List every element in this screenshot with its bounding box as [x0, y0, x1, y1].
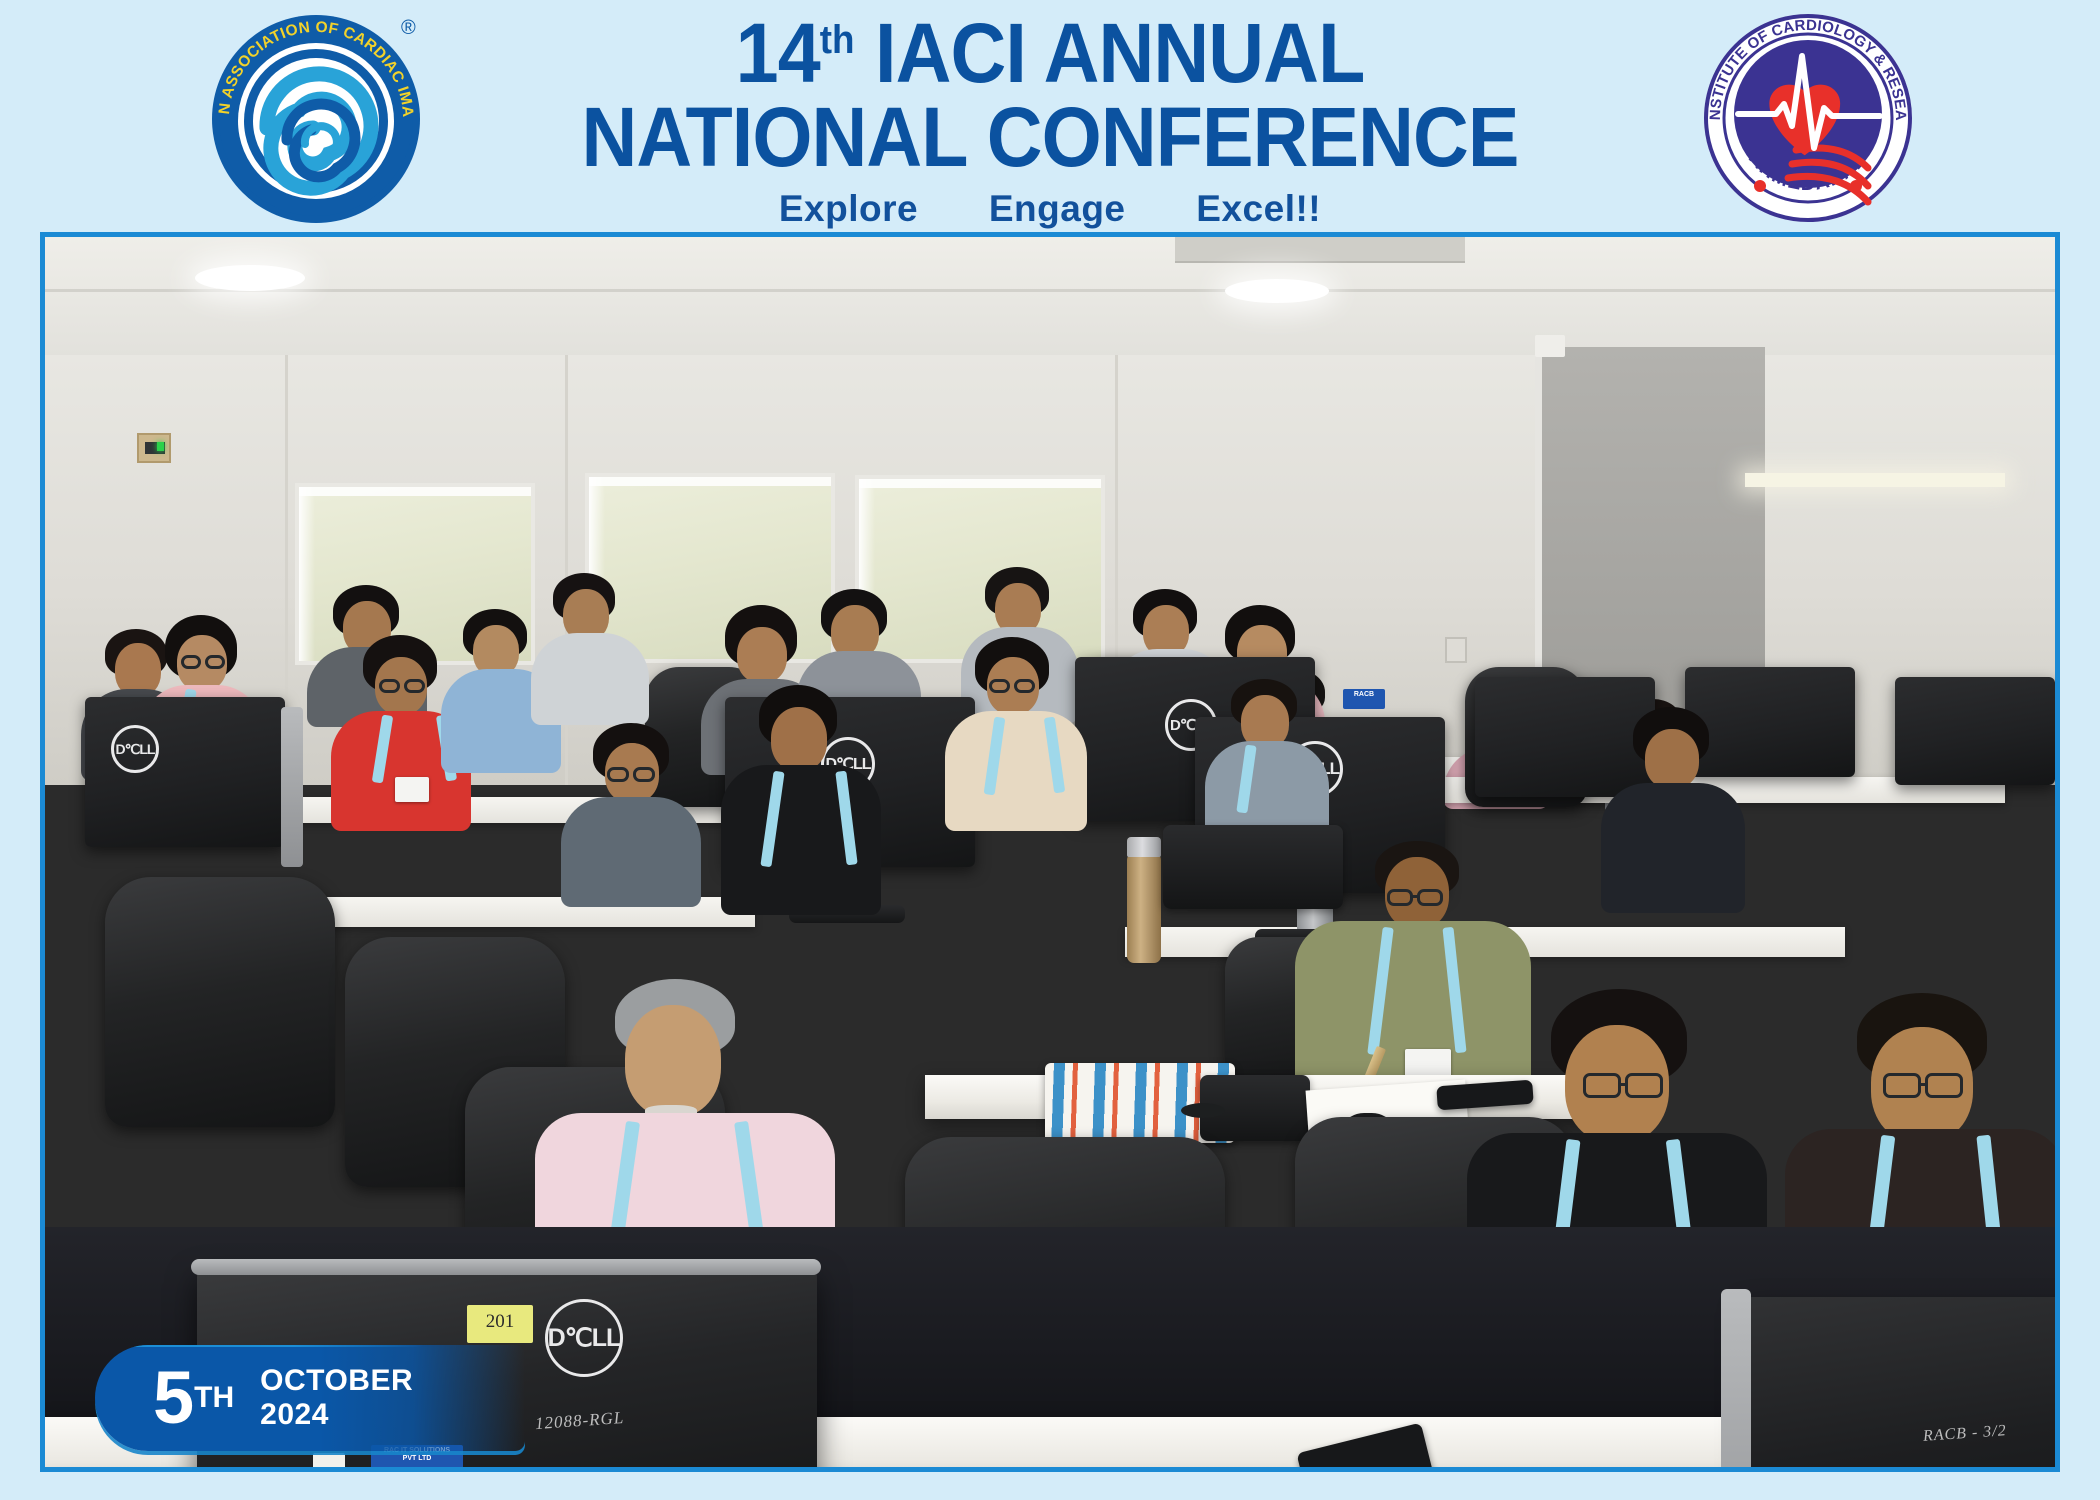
desk-grommet — [1181, 1103, 1225, 1118]
dell-monitor — [1895, 677, 2055, 785]
event-date-badge: 5 TH OCTOBER 2024 — [95, 1345, 525, 1451]
dell-monitor-foreground-right — [1745, 1297, 2055, 1467]
asset-tag-sticker: 201 — [467, 1305, 533, 1343]
office-chair — [105, 877, 335, 1127]
date-day: 5 — [153, 1367, 194, 1430]
ceiling-vent — [1175, 237, 1465, 263]
dell-logo-icon: D℃LL — [111, 725, 159, 773]
tagline-word-1: Explore — [749, 188, 948, 230]
title-line-1-rest: IACI ANNUAL — [875, 6, 1364, 100]
registered-trademark-icon: ® — [401, 17, 416, 39]
dell-monitor — [1475, 677, 1655, 797]
ceiling-light — [1225, 279, 1329, 303]
conference-hall-photograph: D℃LL D℃LL RACB D℃LL D℃LL — [40, 232, 2060, 1472]
date-year: 2024 — [260, 1398, 329, 1431]
conference-tagline: Explore Engage Excel!! — [430, 188, 1670, 230]
dell-logo-icon: D℃LL — [545, 1299, 623, 1377]
dell-monitor — [85, 697, 285, 847]
tagline-word-2: Engage — [959, 188, 1156, 230]
water-bottle — [1127, 853, 1161, 963]
title-line-2: NATIONAL CONFERENCE — [480, 98, 1621, 178]
conference-banner: INDIAN ASSOCIATION OF CARDIAC IMAGING ® … — [0, 0, 2100, 1500]
monitor-bezel — [191, 1259, 821, 1275]
edition-number: 14 — [736, 6, 820, 100]
date-month: OCTOBER — [260, 1364, 413, 1397]
title-line-1: 14th IACI ANNUAL — [480, 14, 1621, 94]
asset-sticker: RACB — [1343, 689, 1385, 709]
un-mehta-institute-logo: U. N. MEHTA INSTITUTE OF CARDIOLOGY & RE… — [1700, 10, 1916, 226]
sensor-led — [157, 442, 164, 451]
tagline-word-3: Excel!! — [1166, 188, 1351, 230]
edition-ordinal: th — [820, 18, 855, 62]
bottle-cap — [1127, 837, 1161, 857]
ceiling-light — [195, 265, 305, 291]
conference-title-block: 14th IACI ANNUAL NATIONAL CONFERENCE Exp… — [430, 14, 1670, 230]
barcode-sticker — [313, 1453, 345, 1467]
monitor-bezel — [281, 707, 303, 867]
window-blind — [585, 473, 835, 663]
indian-association-of-cardiac-imaging-logo: INDIAN ASSOCIATION OF CARDIAC IMAGING ® — [205, 8, 427, 230]
banner-header: INDIAN ASSOCIATION OF CARDIAC IMAGING ® … — [0, 0, 2100, 232]
wall-light-strip — [1745, 473, 2005, 487]
wall-sensor-box — [137, 433, 171, 463]
delegate-badge — [395, 777, 429, 802]
date-month-year: OCTOBER 2024 — [260, 1364, 413, 1433]
wall-socket — [1445, 637, 1467, 663]
date-ordinal: TH — [194, 1383, 234, 1413]
ceiling — [45, 237, 2055, 357]
monitor-bezel — [1721, 1289, 1751, 1467]
backpack — [1163, 825, 1343, 909]
dell-monitor — [1685, 667, 1855, 777]
